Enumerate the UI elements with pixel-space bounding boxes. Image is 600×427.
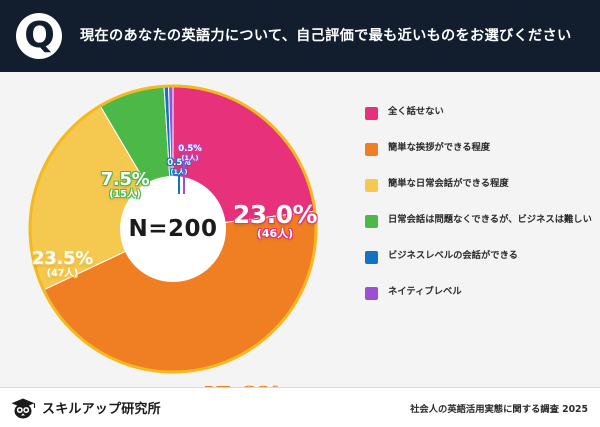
- page-title: 現在のあなたの英語力について、自己評価で最も近いものをお選びください: [80, 27, 571, 45]
- legend-label-4: ビジネスレベルの会話ができる: [388, 250, 518, 261]
- legend-swatch-icon-4: [365, 251, 378, 264]
- donut-chart-svg: [28, 84, 318, 374]
- slide-footer: スキルアップ研究所 社会人の英語活用実態に関する調査 2025: [0, 387, 600, 427]
- legend-swatch-icon-2: [365, 179, 378, 192]
- legend-swatch-icon-5: [365, 287, 378, 300]
- survey-slide: Q 現在のあなたの英語力について、自己評価で最も近いものをお選びください N=2…: [0, 0, 600, 427]
- legend-swatch-icon-0: [365, 107, 378, 120]
- owl-graduation-cap-logo-icon: [10, 396, 36, 420]
- slide-body: N=200 23.0% (46人) 45.0% (90人) 23.5% (47人…: [0, 72, 600, 387]
- legend-item-4[interactable]: ビジネスレベルの会話ができる: [365, 250, 600, 286]
- legend-swatch-icon-3: [365, 215, 378, 228]
- slide-header: Q 現在のあなたの英語力について、自己評価で最も近いものをお選びください: [0, 0, 600, 72]
- legend-label-0: 全く話せない: [388, 106, 444, 117]
- legend-item-2[interactable]: 簡単な日常会話ができる程度: [365, 178, 600, 214]
- source-note: 社会人の英語活用実態に関する調査 2025: [410, 401, 588, 415]
- question-badge-icon: Q: [16, 13, 62, 59]
- donut-chart: N=200: [28, 84, 318, 374]
- brand-block: スキルアップ研究所: [10, 396, 161, 420]
- brand-name: スキルアップ研究所: [42, 398, 161, 417]
- legend-label-1: 簡単な挨拶ができる程度: [388, 142, 490, 153]
- legend-item-0[interactable]: 全く話せない: [365, 106, 600, 142]
- chart-legend: 全く話せない 簡単な挨拶ができる程度 簡単な日常会話ができる程度 日常会話は問題…: [355, 72, 600, 387]
- legend-item-5[interactable]: ネイティブレベル: [365, 286, 600, 322]
- legend-item-3[interactable]: 日常会話は問題なくできるが、ビジネスは難しい: [365, 214, 600, 250]
- legend-swatch-icon-1: [365, 143, 378, 156]
- legend-label-3: 日常会話は問題なくできるが、ビジネスは難しい: [388, 214, 592, 225]
- donut-hole: [120, 176, 226, 282]
- chart-pane: N=200 23.0% (46人) 45.0% (90人) 23.5% (47人…: [0, 72, 355, 387]
- legend-label-5: ネイティブレベル: [388, 286, 462, 297]
- legend-label-2: 簡単な日常会話ができる程度: [388, 178, 509, 189]
- legend-item-1[interactable]: 簡単な挨拶ができる程度: [365, 142, 600, 178]
